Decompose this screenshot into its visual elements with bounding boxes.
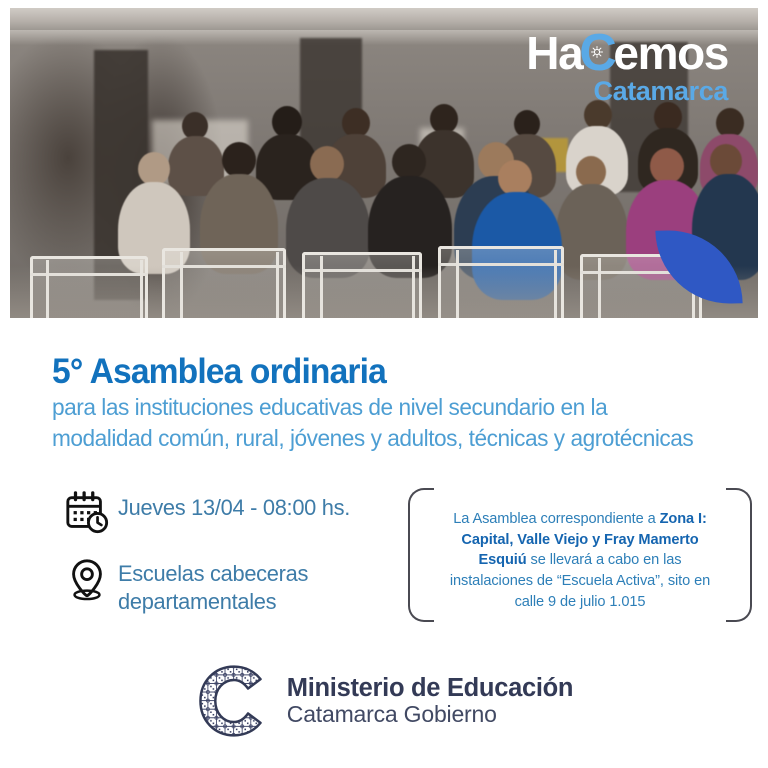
photo-desk-leg bbox=[554, 250, 557, 318]
page-title: 5° Asamblea ordinaria bbox=[52, 352, 386, 392]
event-location-row: Escuelas cabeceras departamentales bbox=[64, 554, 394, 617]
event-info-list: Jueves 13/04 - 08:00 hs. Escuelas cabece… bbox=[64, 488, 394, 635]
hacemos-wordmark: Ha C emos bbox=[526, 30, 728, 77]
ministry-logo-text: Ministerio de Educación Catamarca Gobier… bbox=[287, 674, 573, 728]
photo-desk-leg bbox=[46, 260, 49, 318]
location-pin-icon bbox=[64, 554, 118, 602]
person-head bbox=[650, 148, 684, 184]
person-head bbox=[710, 144, 742, 178]
zone-note-part-1: La Asamblea correspondiente a bbox=[453, 511, 659, 527]
photo-desk-leg bbox=[140, 260, 143, 318]
event-date-row: Jueves 13/04 - 08:00 hs. bbox=[64, 488, 394, 536]
person-head bbox=[498, 160, 532, 196]
event-date-text: Jueves 13/04 - 08:00 hs. bbox=[118, 488, 350, 522]
page-subtitle-line-1: para las instituciones educativas de niv… bbox=[52, 392, 728, 423]
page-subtitle-line-2: modalidad común, rural, jóvenes y adulto… bbox=[52, 423, 728, 454]
event-location-text: Escuelas cabeceras departamentales bbox=[118, 554, 308, 617]
event-location-line-1: Escuelas cabeceras bbox=[118, 560, 308, 588]
person-head bbox=[222, 142, 256, 178]
person-head bbox=[310, 146, 344, 182]
hacemos-catamarca-logo: Ha C emos Catamarca bbox=[526, 30, 728, 105]
page-subtitle: para las instituciones educativas de niv… bbox=[52, 392, 728, 455]
hacemos-prefix: Ha bbox=[526, 30, 582, 76]
photo-desk-leg bbox=[598, 258, 601, 318]
hacemos-catamarca-sub: Catamarca bbox=[526, 78, 728, 105]
hacemos-suffix: emos bbox=[613, 30, 728, 76]
person-head bbox=[392, 144, 426, 180]
photo-desk-leg bbox=[180, 252, 183, 318]
event-location-line-2: departamentales bbox=[118, 588, 308, 616]
catamarca-c-logo-icon bbox=[195, 662, 273, 740]
sun-motif-icon bbox=[591, 45, 604, 58]
hero-photo: Ha C emos Catamarca bbox=[10, 8, 758, 318]
bracket-left bbox=[408, 488, 434, 622]
photo-desk-leg bbox=[320, 256, 323, 318]
person-head bbox=[138, 152, 170, 186]
photo-desk-leg bbox=[412, 256, 415, 318]
event-date-line-1: Jueves 13/04 - 08:00 hs. bbox=[118, 494, 350, 522]
photo-desk-leg bbox=[276, 252, 279, 318]
zone-note-box: La Asamblea correspondiente a Zona I: Ca… bbox=[408, 488, 752, 622]
bracket-right bbox=[726, 488, 752, 622]
photo-desk-leg bbox=[456, 250, 459, 318]
ministry-government: Catamarca Gobierno bbox=[287, 702, 573, 728]
ministry-name: Ministerio de Educación bbox=[287, 674, 573, 703]
zone-note-text: La Asamblea correspondiente a Zona I: Ca… bbox=[438, 509, 722, 613]
ministry-footer: Ministerio de Educación Catamarca Gobier… bbox=[0, 662, 768, 740]
poster-canvas: Ha C emos Catamarca bbox=[0, 0, 768, 768]
hacemos-c-letter: C bbox=[579, 30, 615, 77]
calendar-clock-icon bbox=[64, 488, 118, 536]
